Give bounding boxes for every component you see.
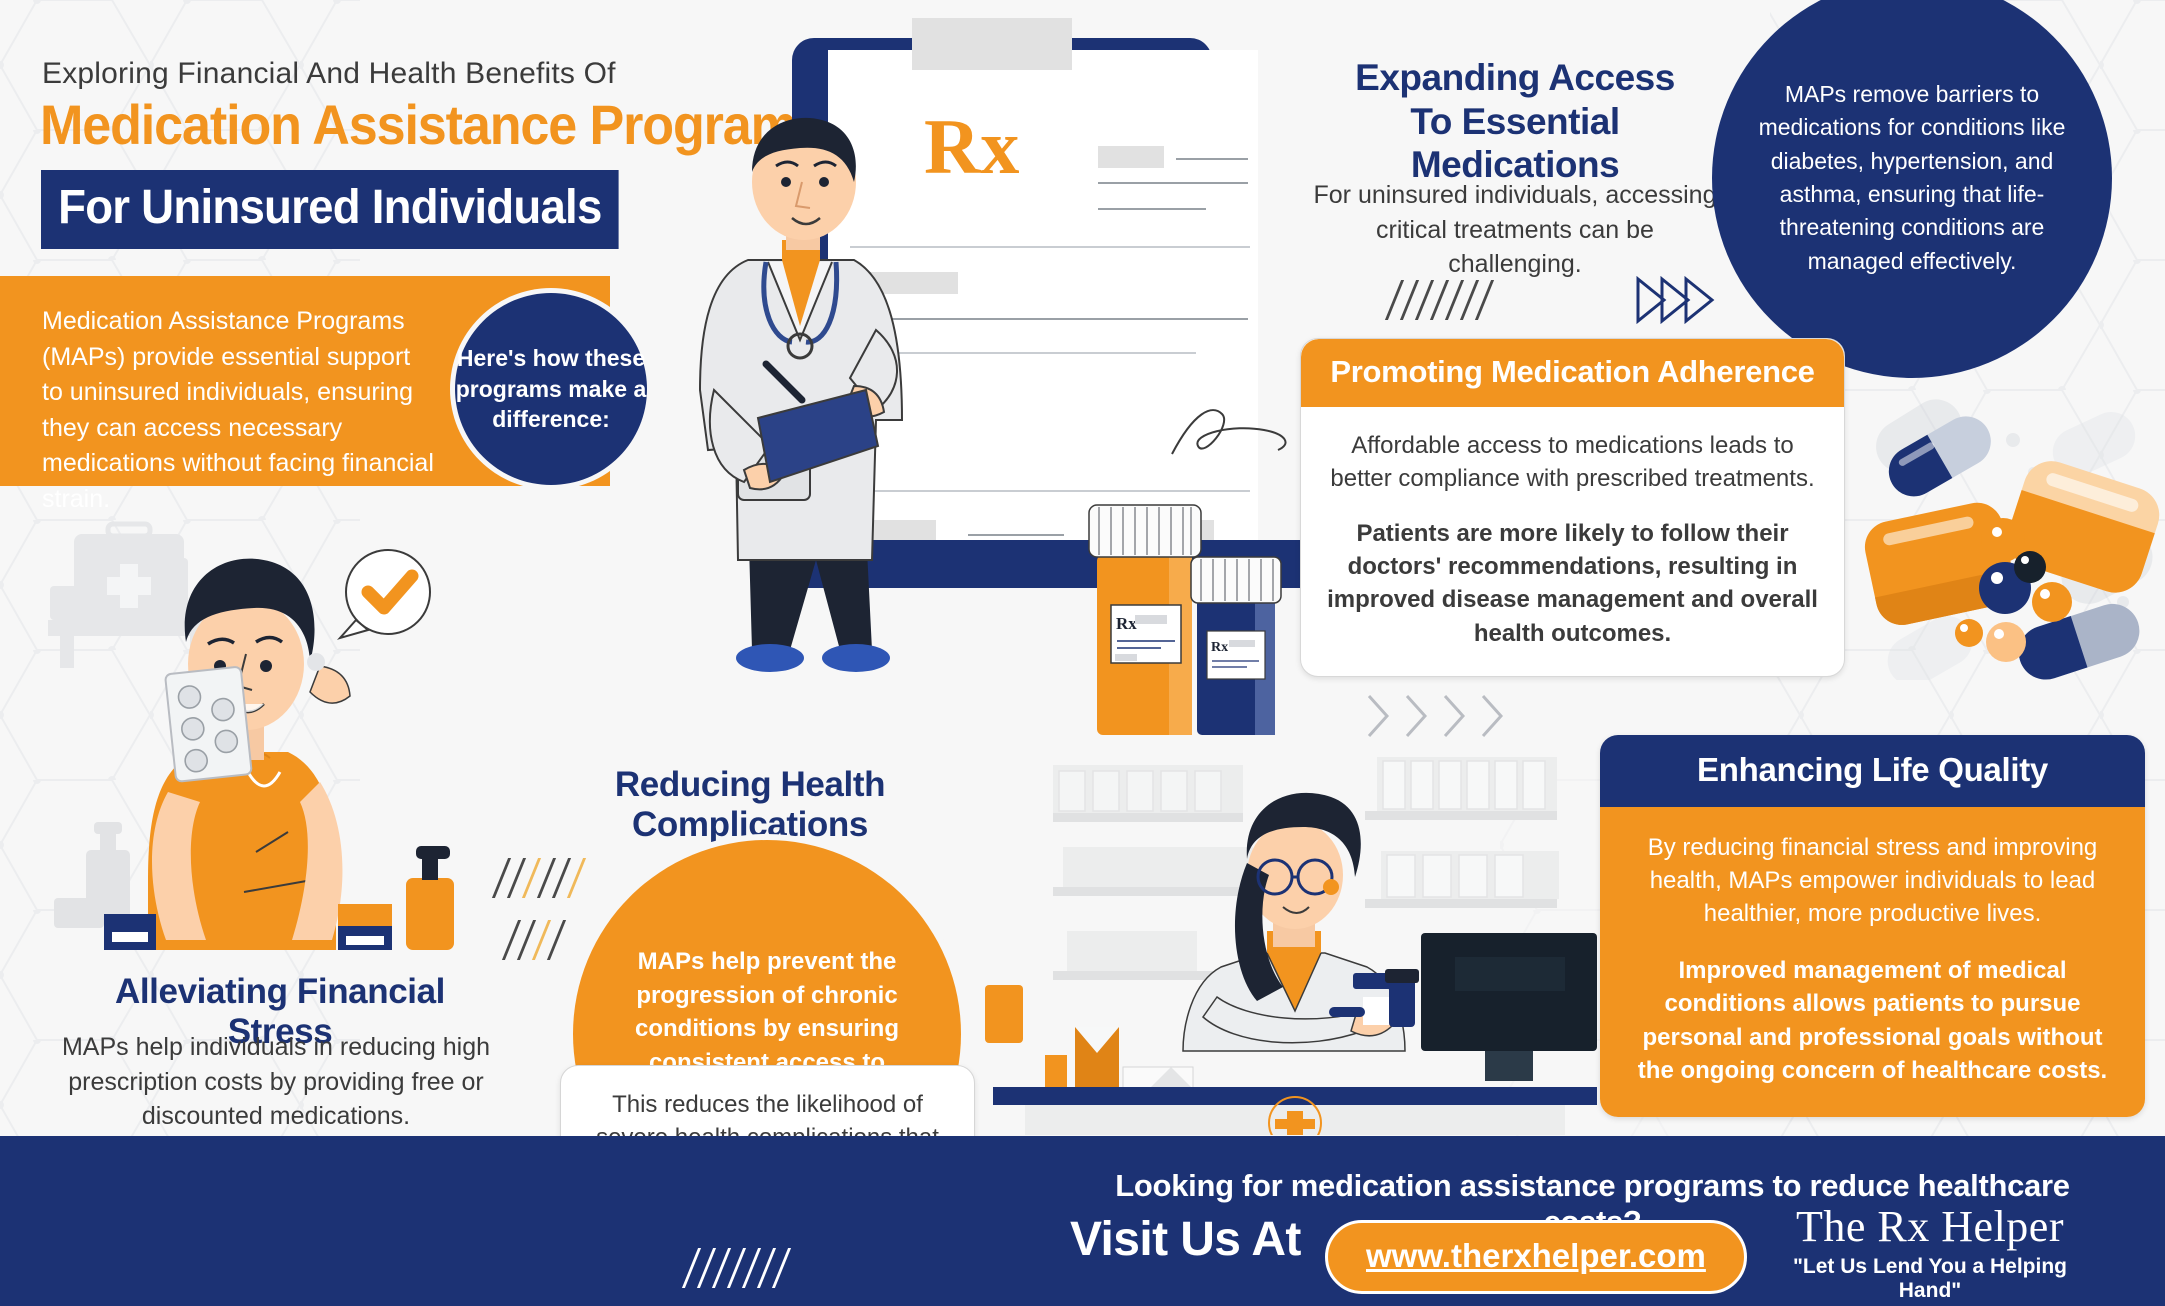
expanding-access-body: For uninsured individuals, accessing cri… <box>1310 178 1720 282</box>
capsules-illustration <box>1845 390 2165 680</box>
adherence-card-heading: Promoting Medication Adherence <box>1301 339 1844 407</box>
adherence-card: Promoting Medication Adherence Affordabl… <box>1300 338 1845 677</box>
paper-line <box>1098 182 1248 184</box>
health-complications-heading: Reducing Health Complications <box>500 765 1000 845</box>
triple-chevron-right-icon <box>1636 276 1716 324</box>
signature-scribble <box>1168 400 1298 470</box>
pharmacist-illustration <box>985 735 1605 1135</box>
life-quality-paragraph-2: Improved management of medical condition… <box>1630 954 2115 1086</box>
brand-logo-tagline: "Let Us Lend You a Helping Hand" <box>1765 1255 2095 1303</box>
website-url-button[interactable]: www.therxhelper.com <box>1325 1220 1747 1294</box>
adherence-card-paragraph-2: Patients are more likely to follow their… <box>1327 517 1818 649</box>
pill-bottles-illustration: Rx Rx <box>1085 495 1305 760</box>
doctor-illustration <box>640 90 970 730</box>
financial-stress-paragraph: MAPs help individuals in reducing high p… <box>42 1030 510 1134</box>
zigzag-decor <box>1365 690 1525 740</box>
hatch-marks-decor-2 <box>500 858 578 898</box>
heres-how-label: Here's how these programs make a differe… <box>455 343 647 434</box>
barriers-circle: MAPs remove barriers to medications for … <box>1712 0 2112 378</box>
hatch-marks-decor <box>1393 280 1486 320</box>
heres-how-circle: Here's how these programs make a differe… <box>455 293 647 485</box>
life-quality-card: Enhancing Life Quality By reducing finan… <box>1600 735 2145 1117</box>
clipboard-clip <box>912 18 1072 70</box>
brand-logo: The Rx Helper "Let Us Lend You a Helping… <box>1765 1205 2095 1303</box>
expanding-access-heading-line2: To Essential Medications <box>1320 100 1710 187</box>
page-subtitle-band: For Uninsured Individuals <box>41 170 619 249</box>
svg-text:Rx: Rx <box>1211 640 1228 655</box>
woman-taking-medication-illustration <box>20 520 470 950</box>
infographic-canvas: Exploring Financial And Health Benefits … <box>0 0 2165 1306</box>
hatch-marks-decor-footer <box>690 1248 783 1288</box>
svg-text:Rx: Rx <box>1116 614 1137 633</box>
life-quality-card-heading: Enhancing Life Quality <box>1600 735 2145 807</box>
life-quality-paragraph-1: By reducing financial stress and improvi… <box>1630 831 2115 930</box>
intro-paragraph: Medication Assistance Programs (MAPs) pr… <box>42 304 437 517</box>
paper-block <box>1098 146 1164 168</box>
hatch-marks-decor-3 <box>510 920 558 960</box>
paper-line <box>968 534 1064 536</box>
barriers-circle-text: MAPs remove barriers to medications for … <box>1750 78 2074 278</box>
expanding-access-heading-line1: Expanding Access <box>1320 56 1710 100</box>
header-kicker: Exploring Financial And Health Benefits … <box>42 57 616 91</box>
expanding-access-heading: Expanding Access To Essential Medication… <box>1320 56 1710 187</box>
paper-line <box>1176 158 1248 160</box>
paper-line <box>1098 208 1206 210</box>
footer-visit-label: Visit Us At <box>1070 1212 1301 1267</box>
brand-logo-name: The Rx Helper <box>1765 1205 2095 1249</box>
adherence-card-paragraph-1: Affordable access to medications leads t… <box>1327 429 1818 495</box>
